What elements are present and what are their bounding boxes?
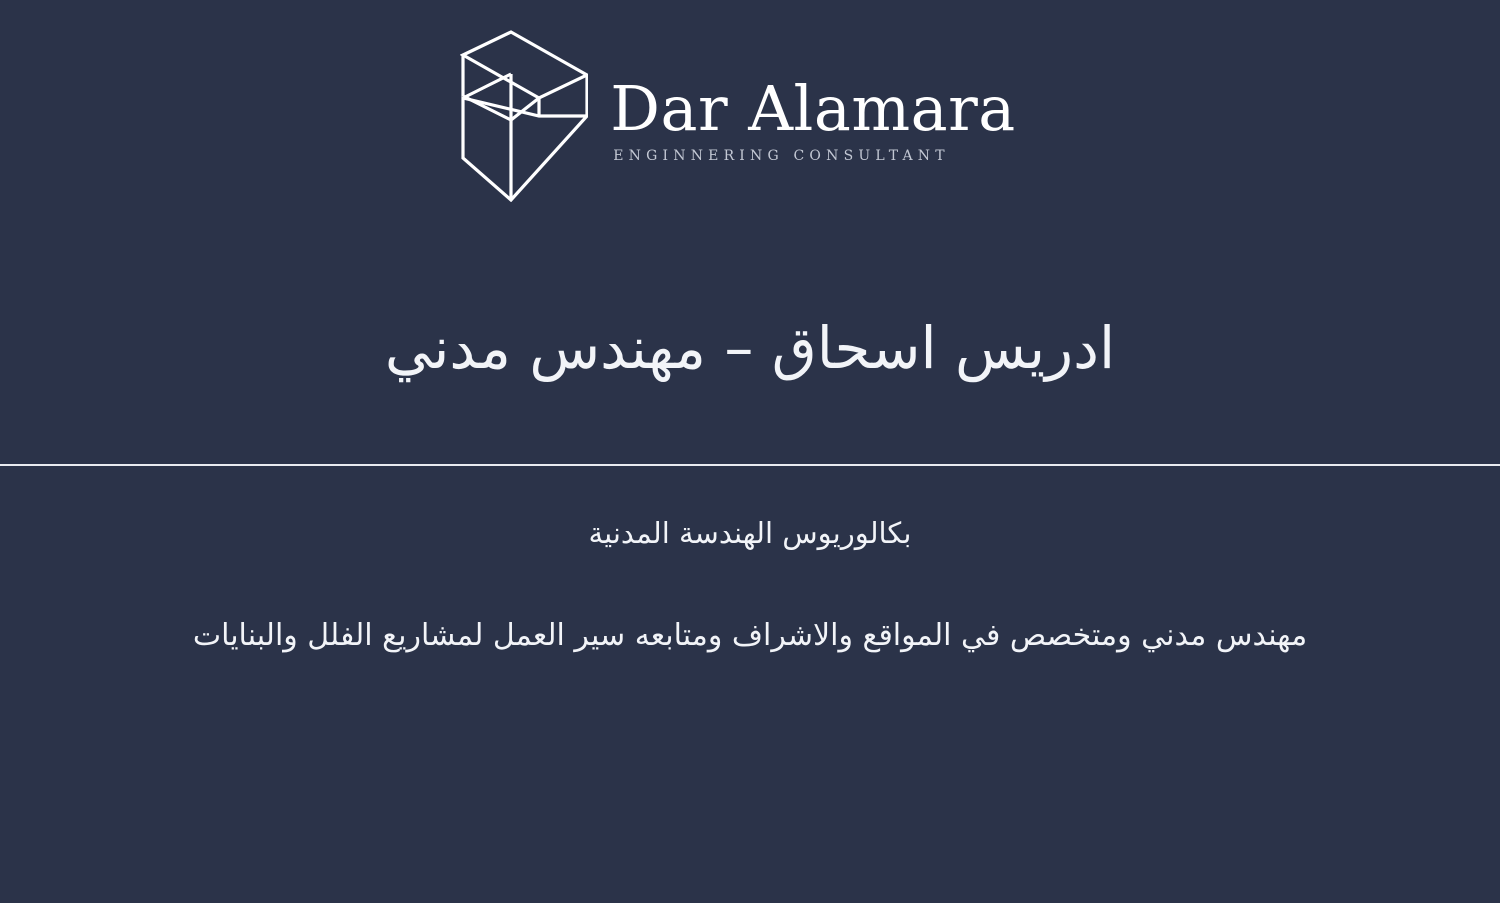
profile-card-page: Dar Alamara ENGINNERING CONSULTANT ادريس…: [0, 0, 1500, 903]
title-block: ادريس اسحاق – مهندس مدني: [0, 232, 1500, 464]
content-block: بكالوريوس الهندسة المدنية مهندس مدني ومت…: [0, 466, 1500, 903]
degree-text: بكالوريوس الهندسة المدنية: [589, 466, 912, 554]
page-title: ادريس اسحاق – مهندس مدني: [385, 312, 1115, 385]
logo: Dar Alamara ENGINNERING CONSULTANT: [460, 30, 1015, 202]
logo-company-name: Dar Alamara: [610, 77, 1015, 140]
dar-alamara-logo-icon: [460, 30, 588, 202]
logo-block: Dar Alamara ENGINNERING CONSULTANT: [0, 0, 1500, 232]
logo-wordmark: Dar Alamara ENGINNERING CONSULTANT: [610, 67, 1015, 164]
description-text: مهندس مدني ومتخصص في المواقع والاشراف وم…: [193, 554, 1307, 658]
logo-tagline: ENGINNERING CONSULTANT: [613, 148, 950, 165]
